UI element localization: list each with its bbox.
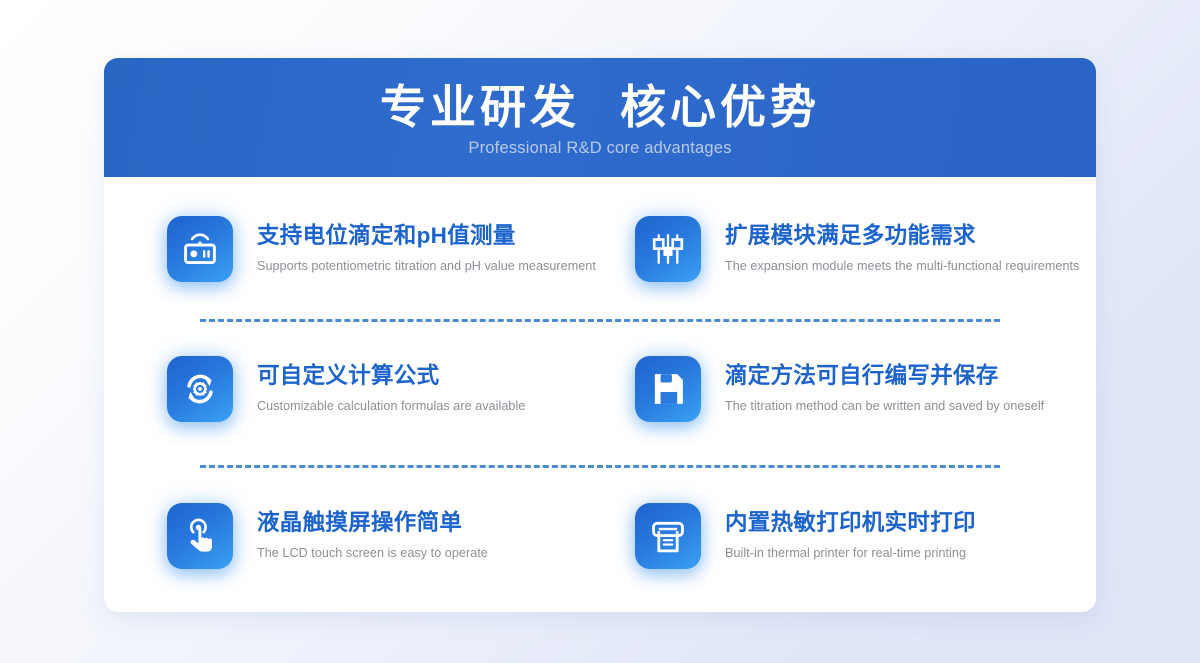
feature-item-expansion-module[interactable]: 扩展模块满足多功能需求 The expansion module meets t… [589,177,1096,319]
floppy-save-icon [635,356,701,422]
feature-row: 液晶触摸屏操作简单 The LCD touch screen is easy t… [104,465,1096,612]
page-subtitle: Professional R&D core advantages [104,134,1096,158]
instrument-display-icon [167,216,233,282]
feature-desc: The expansion module meets the multi-fun… [725,250,1079,273]
page-title: 专业研发 核心优势 [104,58,1096,134]
feature-text: 滴定方法可自行编写并保存 The titration method can be… [701,356,1044,413]
card-header: 专业研发 核心优势 Professional R&D core advantag… [104,58,1096,177]
feature-desc: Built-in thermal printer for real-time p… [725,537,976,560]
feature-text: 扩展模块满足多功能需求 The expansion module meets t… [701,216,1079,273]
feature-desc: Customizable calculation formulas are av… [257,390,525,413]
advantages-card: 专业研发 核心优势 Professional R&D core advantag… [104,58,1096,612]
refresh-gear-icon [167,356,233,422]
feature-text: 内置热敏打印机实时打印 Built-in thermal printer for… [701,503,976,560]
feature-item-potentiometric-titration[interactable]: 支持电位滴定和pH值测量 Supports potentiometric tit… [104,177,589,319]
feature-text: 支持电位滴定和pH值测量 Supports potentiometric tit… [233,216,589,273]
feature-item-lcd-touchscreen[interactable]: 液晶触摸屏操作简单 The LCD touch screen is easy t… [104,465,589,612]
feature-title: 可自定义计算公式 [257,358,525,390]
feature-item-custom-formula[interactable]: 可自定义计算公式 Customizable calculation formul… [104,319,589,465]
feature-title: 内置热敏打印机实时打印 [725,505,976,537]
feature-desc: The titration method can be written and … [725,390,1044,413]
feature-title: 滴定方法可自行编写并保存 [725,358,1044,390]
feature-item-thermal-printer[interactable]: 内置热敏打印机实时打印 Built-in thermal printer for… [589,465,1096,612]
feature-text: 液晶触摸屏操作简单 The LCD touch screen is easy t… [233,503,488,560]
feature-row: 支持电位滴定和pH值测量 Supports potentiometric tit… [104,177,1096,319]
feature-text: 可自定义计算公式 Customizable calculation formul… [233,356,525,413]
features-grid: 支持电位滴定和pH值测量 Supports potentiometric tit… [104,177,1096,612]
printer-icon [635,503,701,569]
feature-item-save-method[interactable]: 滴定方法可自行编写并保存 The titration method can be… [589,319,1096,465]
feature-title: 支持电位滴定和pH值测量 [257,218,589,250]
feature-desc: Supports potentiometric titration and pH… [257,250,589,273]
feature-title: 扩展模块满足多功能需求 [725,218,1079,250]
feature-desc: The LCD touch screen is easy to operate [257,537,488,560]
feature-row: 可自定义计算公式 Customizable calculation formul… [104,319,1096,465]
touch-hand-icon [167,503,233,569]
equalizer-sliders-icon [635,216,701,282]
feature-title: 液晶触摸屏操作简单 [257,505,488,537]
